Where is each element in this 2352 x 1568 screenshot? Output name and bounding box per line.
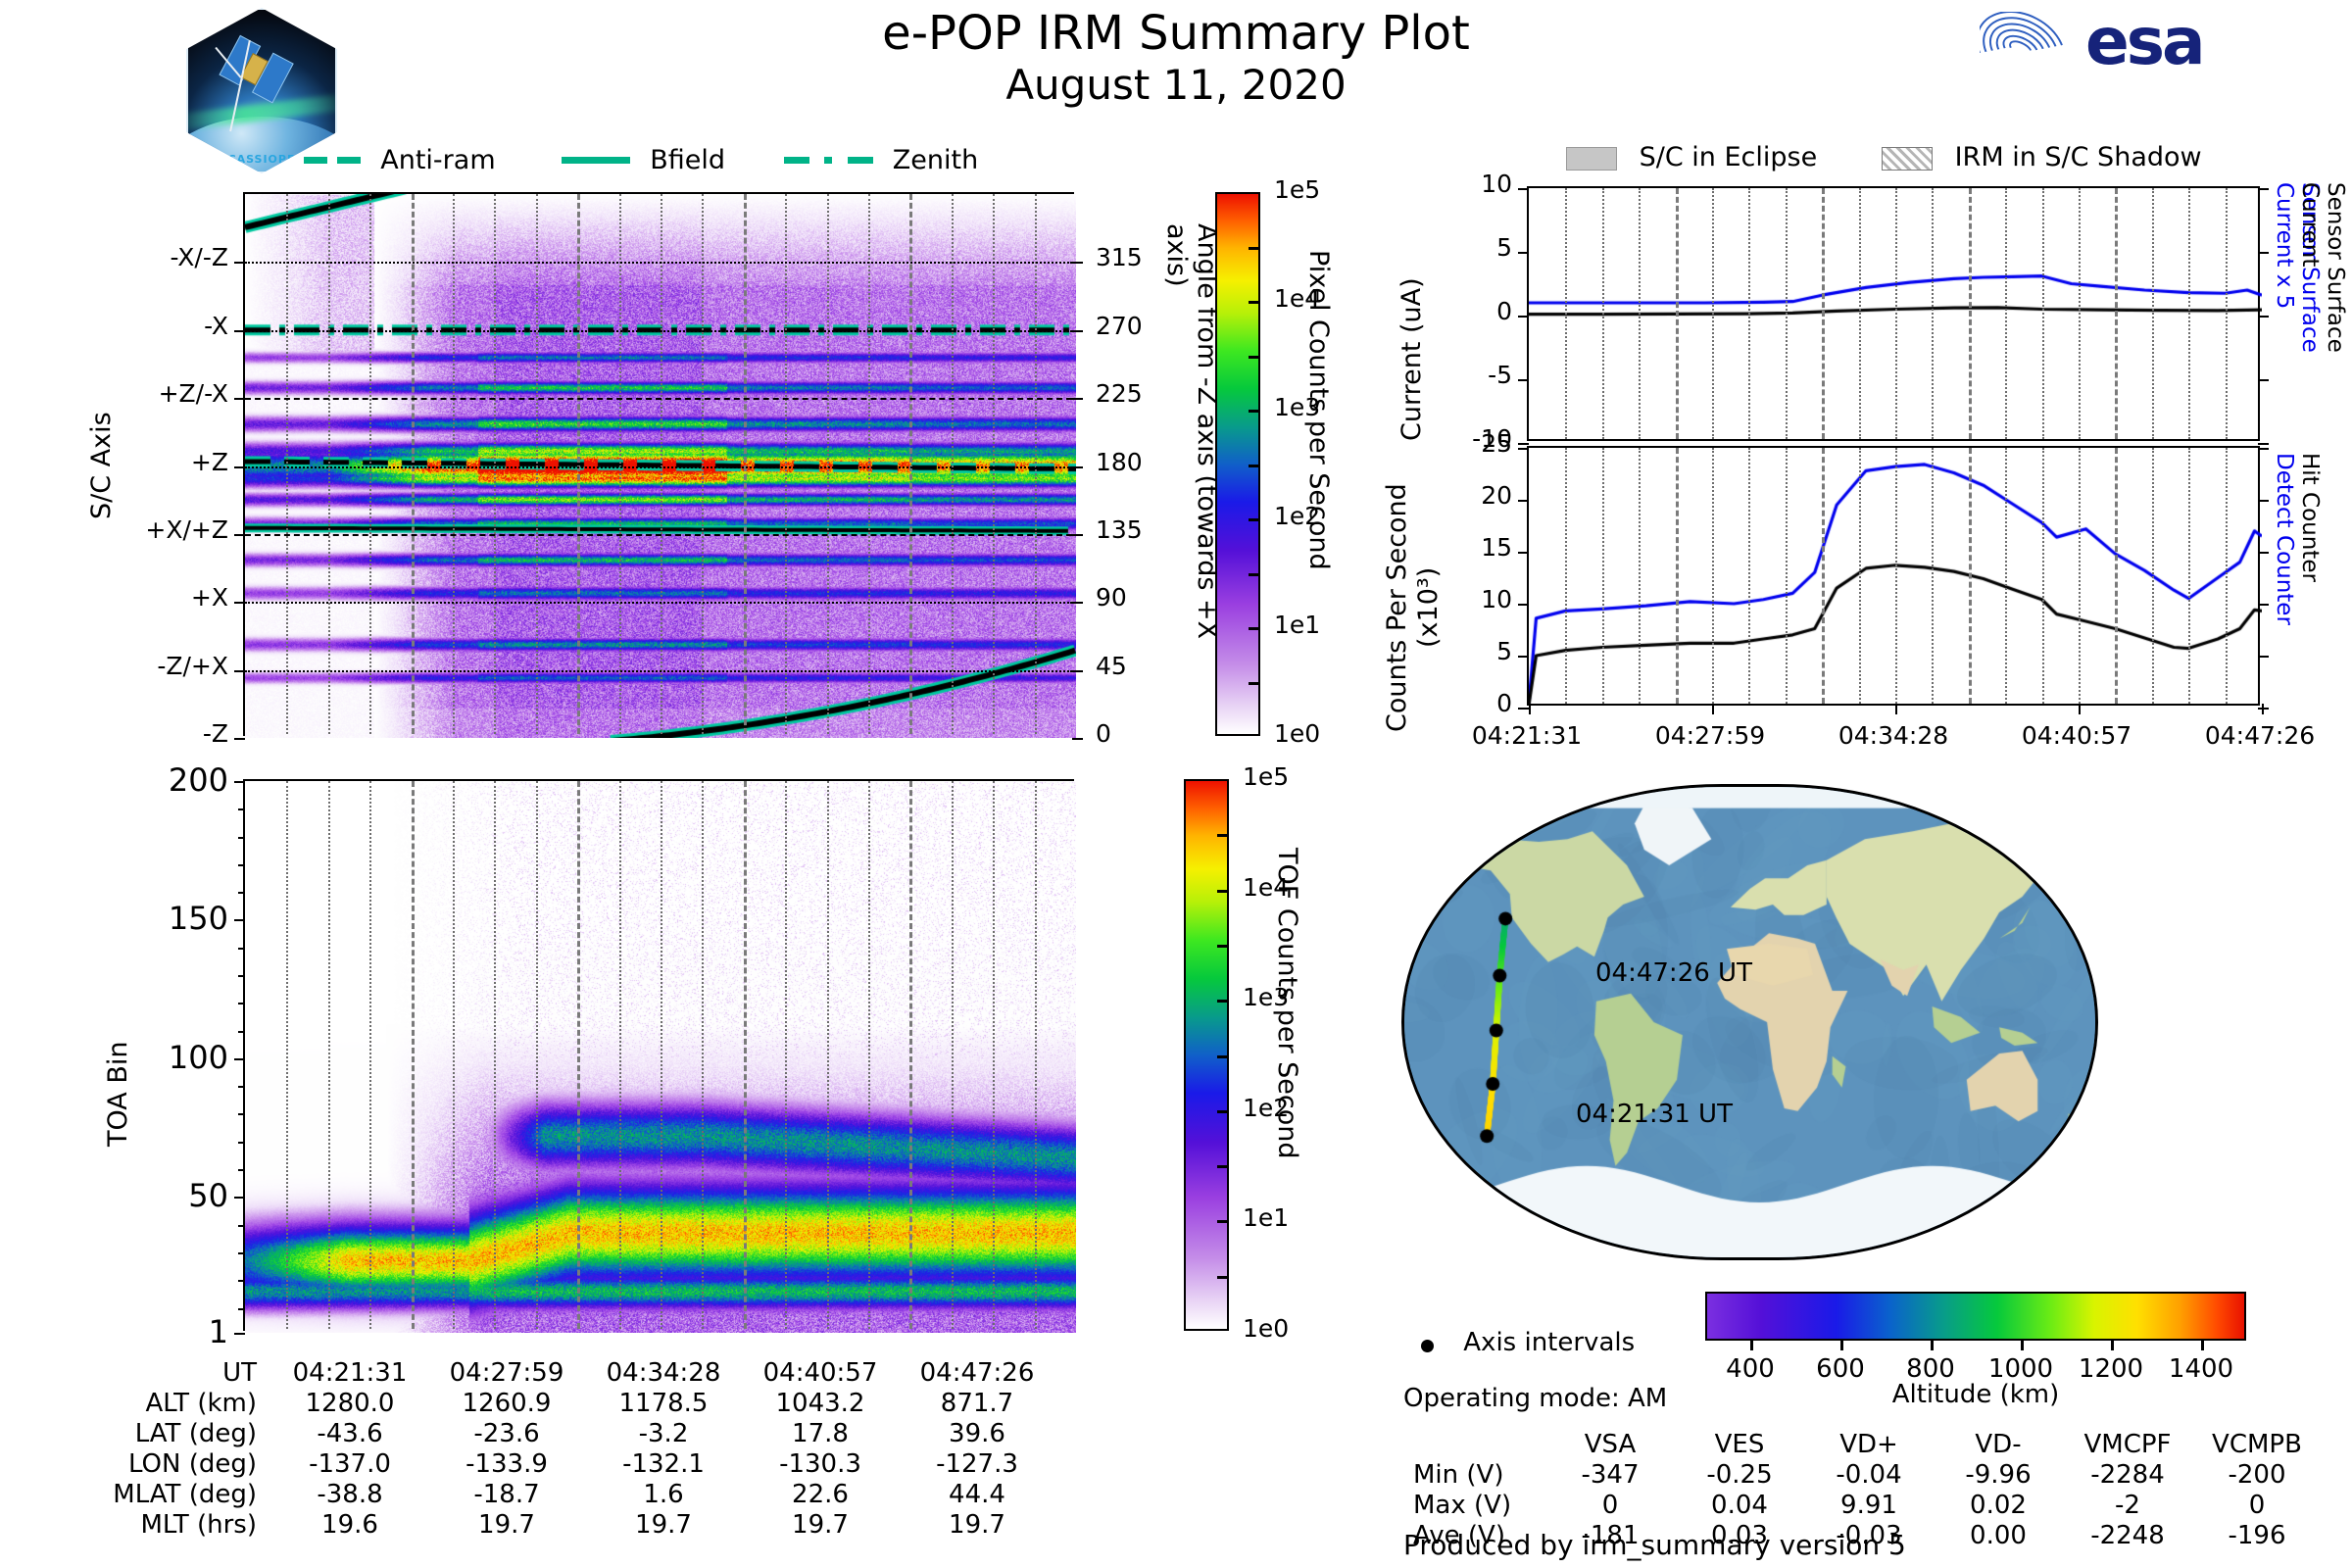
tick: [2258, 188, 2269, 190]
current-ytick: 0: [1399, 297, 1512, 325]
colorbar-minor-tick: [1217, 834, 1229, 837]
grid-line: [868, 781, 870, 1329]
angle-ytick-right: 135: [1096, 515, 1143, 544]
anti-ram-line-icon: [304, 157, 327, 164]
tick: [1518, 656, 1529, 658]
grid-line: [2226, 448, 2228, 704]
tof-cb-tick: 1e1: [1243, 1203, 1289, 1232]
minor-tick: [238, 975, 245, 977]
minor-tick: [238, 1225, 245, 1227]
grid-line: [952, 781, 954, 1329]
world-map: [1401, 784, 2098, 1260]
eph-cell: 19.7: [586, 1511, 741, 1540]
ground-track-map: 04:47:26 UT 04:21:31 UT: [1401, 784, 2092, 1254]
altitude-cb-tickmark: [2021, 1339, 2024, 1350]
grid-line: [744, 781, 747, 1329]
grid-line: [785, 781, 787, 1329]
tof-cb-tick: 1e3: [1243, 983, 1289, 1011]
table-row: MLAT (deg)-38.8-18.71.622.644.4: [80, 1481, 1054, 1509]
angle-ytick-right: 90: [1096, 583, 1127, 612]
counts-ytick: 0: [1399, 689, 1512, 717]
eph-cell: 1280.0: [272, 1390, 427, 1418]
tick: [2258, 252, 2269, 254]
grid-line: [661, 781, 662, 1329]
tick: [1518, 443, 1529, 445]
volt-cell: -2: [2064, 1492, 2191, 1520]
colorbar-tick: [1217, 1220, 1229, 1223]
tick: [2258, 552, 2269, 554]
counts-right-label-blue: Detect Counter: [2272, 453, 2297, 698]
volt-cell: -0.25: [1676, 1461, 1803, 1490]
counts-xtick: 04:21:31: [1434, 721, 1620, 750]
angle-ytick-right: 45: [1096, 652, 1127, 680]
grid-line: [1932, 188, 1934, 439]
grid-line: [702, 194, 704, 734]
volt-cell: -2284: [2064, 1461, 2191, 1490]
angle-reference-line: [245, 466, 1072, 468]
grid-line: [1932, 448, 1934, 704]
colorbar-minor-tick: [1217, 945, 1229, 948]
colorbar-tick: [1217, 1000, 1229, 1003]
grid-line: [661, 194, 662, 734]
esa-swoosh-icon: [1980, 12, 2078, 82]
grid-line: [1895, 448, 1897, 704]
grid-line: [2005, 188, 2007, 439]
tick: [1072, 398, 1083, 400]
toa-ytick: 100: [57, 1039, 228, 1076]
tof-cb-tick: 1e5: [1243, 762, 1289, 791]
counts-ytick: 5: [1399, 637, 1512, 665]
volt-column-header: VMCPF: [2064, 1431, 2191, 1459]
grid-line: [2079, 188, 2081, 439]
grid-line: [412, 194, 415, 734]
tick: [1072, 262, 1083, 264]
grid-line: [1786, 188, 1788, 439]
pixel-counts-colorbar-label: Pixel Counts per Second: [1303, 250, 1334, 671]
eclipse-swatch-icon: [1566, 147, 1617, 171]
eph-cell: 22.6: [743, 1481, 898, 1509]
volt-row-label: Min (V): [1413, 1461, 1544, 1490]
eph-cell: 19.7: [743, 1511, 898, 1540]
angle-ytick-left: +Z: [32, 448, 228, 476]
angle-ytick-left: +Z/-X: [32, 379, 228, 408]
table-row: Min (V)-347-0.25-0.04-9.96-2284-200: [1413, 1461, 2321, 1490]
legend-anti-ram: Anti-ram: [304, 145, 496, 175]
grid-line: [453, 194, 455, 734]
eph-cell: 04:47:26: [900, 1359, 1054, 1388]
minor-tick: [238, 1169, 245, 1171]
minor-tick: [238, 892, 245, 894]
pixel-cb-tick: 1e2: [1274, 502, 1320, 530]
grid-line: [1748, 188, 1750, 439]
tick: [234, 781, 245, 783]
colorbar-tick: [1249, 518, 1260, 521]
minor-tick: [238, 1113, 245, 1115]
pixel-cb-tick: 1e5: [1274, 175, 1320, 204]
grid-line: [1565, 188, 1567, 439]
colorbar-tick: [1249, 301, 1260, 304]
pixel-cb-tick: 1e0: [1274, 719, 1320, 748]
grid-line: [1639, 188, 1641, 439]
tick: [1072, 738, 1083, 740]
counts-ytick: 15: [1399, 533, 1512, 562]
eph-row-label: ALT (km): [80, 1390, 270, 1418]
grid-line: [1712, 448, 1714, 704]
counts-xtick: 04:27:59: [1617, 721, 1803, 750]
footer-credit: Produced by irm_summary version 5: [1403, 1529, 1906, 1561]
grid-line: [577, 194, 580, 734]
grid-line: [286, 194, 288, 734]
minor-tick: [238, 1031, 245, 1033]
volt-row-label: Max (V): [1413, 1492, 1544, 1520]
grid-line: [1676, 448, 1679, 704]
table-row: ALT (km)1280.01260.91178.51043.2871.7: [80, 1390, 1054, 1418]
eph-row-label: MLT (hrs): [80, 1511, 270, 1540]
tick: [234, 466, 245, 468]
eph-cell: -3.2: [586, 1420, 741, 1448]
altitude-cb-tickmark: [1931, 1339, 1934, 1350]
volt-column-header: VD+: [1805, 1431, 1933, 1459]
eph-cell: 04:21:31: [272, 1359, 427, 1388]
grid-line: [1822, 188, 1825, 439]
angle-ytick-right: 225: [1096, 379, 1143, 408]
eph-cell: 1178.5: [586, 1390, 741, 1418]
angle-ytick-right: 180: [1096, 448, 1143, 476]
angle-reference-line: [245, 330, 1072, 332]
grid-line: [2188, 188, 2190, 439]
altitude-colorbar-ticks: 400600800100012001400: [1705, 1347, 2246, 1380]
grid-line: [369, 781, 371, 1329]
eph-cell: -137.0: [272, 1450, 427, 1479]
pixel-cb-tick: 1e3: [1274, 393, 1320, 421]
colorbar-minor-tick: [1249, 573, 1260, 576]
counts-ytick: 20: [1399, 481, 1512, 510]
grid-line: [2115, 188, 2118, 439]
grid-line: [619, 194, 621, 734]
tick: [234, 262, 245, 264]
volt-cell: 0.04: [1676, 1492, 1803, 1520]
tick: [1072, 330, 1083, 332]
angle-ytick-left: +X: [32, 583, 228, 612]
minor-tick: [238, 1086, 245, 1088]
table-row: LON (deg)-137.0-133.9-132.1-130.3-127.3: [80, 1450, 1054, 1479]
minor-tick: [238, 919, 245, 921]
grid-line: [2152, 188, 2154, 439]
esa-wordmark: esa: [2085, 4, 2203, 79]
volt-cell: 9.91: [1805, 1492, 1933, 1520]
eph-cell: -127.3: [900, 1450, 1054, 1479]
grid-line: [1035, 781, 1037, 1329]
eph-cell: -38.8: [272, 1481, 427, 1509]
colorbar-minor-tick: [1249, 356, 1260, 359]
colorbar-tick: [1217, 890, 1229, 893]
table-row: UT04:21:3104:27:5904:34:2804:40:5704:47:…: [80, 1359, 1054, 1388]
grid-line: [412, 781, 415, 1329]
counts-xtick: 04:34:28: [1800, 721, 1986, 750]
tick: [2079, 704, 2081, 714]
angle-ytick-right: 315: [1096, 243, 1143, 271]
colorbar-minor-tick: [1217, 1276, 1229, 1279]
eph-cell: 04:27:59: [429, 1359, 584, 1388]
toa-spectrogram-panel: [243, 779, 1074, 1331]
orbit-track-line: [1404, 787, 2095, 1257]
eph-cell: -23.6: [429, 1420, 584, 1448]
axis-interval-dot-icon: [1421, 1340, 1434, 1352]
grid-line: [328, 781, 330, 1329]
grid-line: [1859, 188, 1861, 439]
angle-ytick-right: 0: [1096, 719, 1111, 748]
minor-tick: [238, 1252, 245, 1254]
table-row: MLT (hrs)19.619.719.719.719.7: [80, 1511, 1054, 1540]
grid-line: [2079, 448, 2081, 704]
grid-line: [2188, 448, 2190, 704]
grid-line: [1565, 448, 1567, 704]
table-row: LAT (deg)-43.6-23.6-3.217.839.6: [80, 1420, 1054, 1448]
current-panel: [1527, 186, 2260, 441]
track-end-time-label: 04:47:26 UT: [1595, 958, 1752, 988]
angle-spectrogram-panel: [243, 192, 1074, 736]
colorbar-minor-tick: [1249, 682, 1260, 685]
minor-tick: [238, 837, 245, 839]
eph-cell: 19.7: [429, 1511, 584, 1540]
eph-row-label: LON (deg): [80, 1450, 270, 1479]
angle-panel-ylabel-left: S/C Axis: [86, 323, 117, 519]
volt-column-header: VES: [1676, 1431, 1803, 1459]
tick: [1895, 704, 1897, 714]
current-ytick: 10: [1399, 170, 1512, 198]
minor-tick: [238, 948, 245, 950]
volt-cell: -0.04: [1805, 1461, 1933, 1490]
zenith-line-icon: [784, 157, 809, 164]
altitude-colorbar: [1705, 1292, 2246, 1341]
grid-line: [2042, 188, 2044, 439]
angle-ytick-right: 270: [1096, 312, 1143, 340]
tick: [1072, 602, 1083, 604]
grid-line: [1859, 448, 1861, 704]
operating-mode-label: Operating mode: AM: [1403, 1384, 1667, 1413]
grid-line: [993, 781, 995, 1329]
tick: [234, 1333, 245, 1335]
volt-corner: [1413, 1431, 1544, 1459]
eph-row-label: UT: [80, 1359, 270, 1388]
eph-cell: -18.7: [429, 1481, 584, 1509]
grid-line: [868, 194, 870, 734]
grid-line: [1969, 448, 1972, 704]
volt-cell: 0.00: [1935, 1522, 2062, 1550]
eph-row-label: LAT (deg): [80, 1420, 270, 1448]
minor-tick: [238, 1142, 245, 1144]
volt-cell: -2248: [2064, 1522, 2191, 1550]
grid-line: [536, 194, 538, 734]
tick: [1518, 379, 1529, 381]
volt-cell: -200: [2193, 1461, 2321, 1490]
toa-ytick: 1: [57, 1313, 228, 1350]
tick: [1518, 252, 1529, 254]
angle-ytick-left: -Z/+X: [32, 652, 228, 680]
tick: [2258, 500, 2269, 502]
esa-logo: esa: [1980, 6, 2264, 86]
eph-cell: 1260.9: [429, 1390, 584, 1418]
current-ytick: 5: [1399, 233, 1512, 262]
eph-cell: 1043.2: [743, 1390, 898, 1418]
grid-line: [619, 781, 621, 1329]
altitude-cb-tickmark: [1840, 1339, 1843, 1350]
grid-line: [744, 194, 747, 734]
counts-ytick: 25: [1399, 429, 1512, 458]
counts-panel: [1527, 446, 2260, 706]
grid-line: [952, 194, 954, 734]
altitude-colorbar-label: Altitude (km): [1705, 1380, 2246, 1409]
tick: [2258, 443, 2269, 445]
angle-ytick-left: +X/+Z: [32, 515, 228, 544]
current-ytick: -5: [1399, 361, 1512, 389]
volt-cell: 0: [1546, 1492, 1674, 1520]
volt-cell: 0.02: [1935, 1492, 2062, 1520]
grid-line: [453, 781, 455, 1329]
altitude-cb-tickmark: [1750, 1339, 1753, 1350]
tick: [234, 738, 245, 740]
eph-cell: 19.7: [900, 1511, 1054, 1540]
grid-line: [909, 194, 912, 734]
grid-line: [536, 781, 538, 1329]
eph-cell: -130.3: [743, 1450, 898, 1479]
tick: [1518, 500, 1529, 502]
toa-ytick: 50: [57, 1177, 228, 1214]
table-header-row: VSAVESVD+VD-VMCPFVCMPB: [1413, 1431, 2321, 1459]
counts-xtick: 04:40:57: [1984, 721, 2170, 750]
grid-line: [2042, 448, 2044, 704]
tof-cb-tick: 1e0: [1243, 1314, 1289, 1343]
minor-tick: [238, 1308, 245, 1310]
tick: [1518, 316, 1529, 318]
angle-ytick-left: -Z: [32, 719, 228, 748]
angle-ytick-left: -X: [32, 312, 228, 340]
grid-line: [494, 781, 496, 1329]
grid-line: [827, 194, 829, 734]
angle-reference-line: [245, 398, 1072, 400]
angle-reference-line: [245, 602, 1072, 604]
current-right-label-black: Sensor Surface Current: [2297, 182, 2348, 427]
angle-reference-line: [245, 670, 1072, 672]
shadow-hatch-swatch-icon: [1882, 147, 1933, 171]
volt-cell: -347: [1546, 1461, 1674, 1490]
minor-tick: [238, 1197, 245, 1199]
tick: [2258, 316, 2269, 318]
tick: [2258, 448, 2269, 450]
grid-line: [785, 194, 787, 734]
volt-column-header: VCMPB: [2193, 1431, 2321, 1459]
legend-irm-shadow: IRM in S/C Shadow: [1882, 142, 2202, 172]
volt-column-header: VSA: [1546, 1431, 1674, 1459]
eph-cell: 39.6: [900, 1420, 1054, 1448]
eph-cell: -133.9: [429, 1450, 584, 1479]
angle-ytick-left: -X/-Z: [32, 243, 228, 271]
tick: [234, 670, 245, 672]
table-row: Max (V)00.049.910.02-20: [1413, 1492, 2321, 1520]
angle-reference-line: [245, 262, 1072, 264]
grid-line: [1969, 188, 1972, 439]
eph-cell: 04:34:28: [586, 1359, 741, 1388]
eph-cell: -43.6: [272, 1420, 427, 1448]
colorbar-minor-tick: [1217, 1055, 1229, 1058]
grid-line: [328, 194, 330, 734]
grid-line: [1602, 188, 1604, 439]
tick: [234, 330, 245, 332]
tick: [1529, 704, 1531, 714]
counts-xtick: 04:47:26: [2167, 721, 2352, 750]
legend-sc-eclipse: S/C in Eclipse: [1566, 142, 1817, 172]
tick: [1518, 552, 1529, 554]
volt-cell: -9.96: [1935, 1461, 2062, 1490]
colorbar-minor-tick: [1249, 465, 1260, 467]
grid-line: [286, 781, 288, 1329]
grid-line: [1676, 188, 1679, 439]
tick: [1518, 604, 1529, 606]
grid-line: [369, 194, 371, 734]
altitude-cb-tickmark: [2111, 1339, 2114, 1350]
tick: [1518, 708, 1529, 710]
legend-bfield: Bfield: [562, 145, 725, 175]
tick: [2258, 379, 2269, 381]
grid-line: [1035, 194, 1037, 734]
colorbar-minor-tick: [1249, 247, 1260, 250]
grid-line: [1639, 448, 1641, 704]
eph-cell: 44.4: [900, 1481, 1054, 1509]
tick: [234, 602, 245, 604]
colorbar-tick: [1249, 410, 1260, 413]
tick: [234, 534, 245, 536]
tick: [1712, 704, 1714, 714]
eph-cell: 17.8: [743, 1420, 898, 1448]
tick: [2258, 656, 2269, 658]
tick: [1518, 188, 1529, 190]
pixel-cb-tick: 1e1: [1274, 611, 1320, 639]
toa-ytick: 150: [57, 900, 228, 937]
grid-line: [577, 781, 580, 1329]
colorbar-tick: [1217, 1110, 1229, 1113]
map-legend-axis-intervals: Axis intervals: [1421, 1328, 1635, 1357]
eph-cell: 1.6: [586, 1481, 741, 1509]
grid-line: [2226, 188, 2228, 439]
grid-line: [1895, 188, 1897, 439]
altitude-cb-tickmark: [2201, 1339, 2204, 1350]
grid-line: [993, 194, 995, 734]
grid-line: [1786, 448, 1788, 704]
grid-line: [1602, 448, 1604, 704]
pixel-cb-tick: 1e4: [1274, 284, 1320, 313]
bfield-line-icon: [562, 157, 630, 164]
eph-cell: 04:40:57: [743, 1359, 898, 1388]
grid-line: [1748, 448, 1750, 704]
tick: [234, 398, 245, 400]
angle-panel-ylabel-right: Angle from -Z axis (towards +X axis): [1161, 223, 1222, 684]
counts-ytick: 10: [1399, 585, 1512, 613]
legend-zenith: Zenith: [784, 145, 978, 175]
minor-tick: [238, 1280, 245, 1282]
grid-line: [702, 781, 704, 1329]
eph-cell: 871.7: [900, 1390, 1054, 1418]
eph-cell: 19.6: [272, 1511, 427, 1540]
grid-line: [2115, 448, 2118, 704]
tof-cb-tick: 1e2: [1243, 1094, 1289, 1122]
grid-line: [909, 781, 912, 1329]
volt-cell: -196: [2193, 1522, 2321, 1550]
counts-right-label-black: Hit Counter: [2297, 453, 2323, 698]
grid-line: [1822, 448, 1825, 704]
volt-column-header: VD-: [1935, 1431, 2062, 1459]
colorbar-tick: [1249, 627, 1260, 630]
track-start-time-label: 04:21:31 UT: [1576, 1100, 1733, 1129]
